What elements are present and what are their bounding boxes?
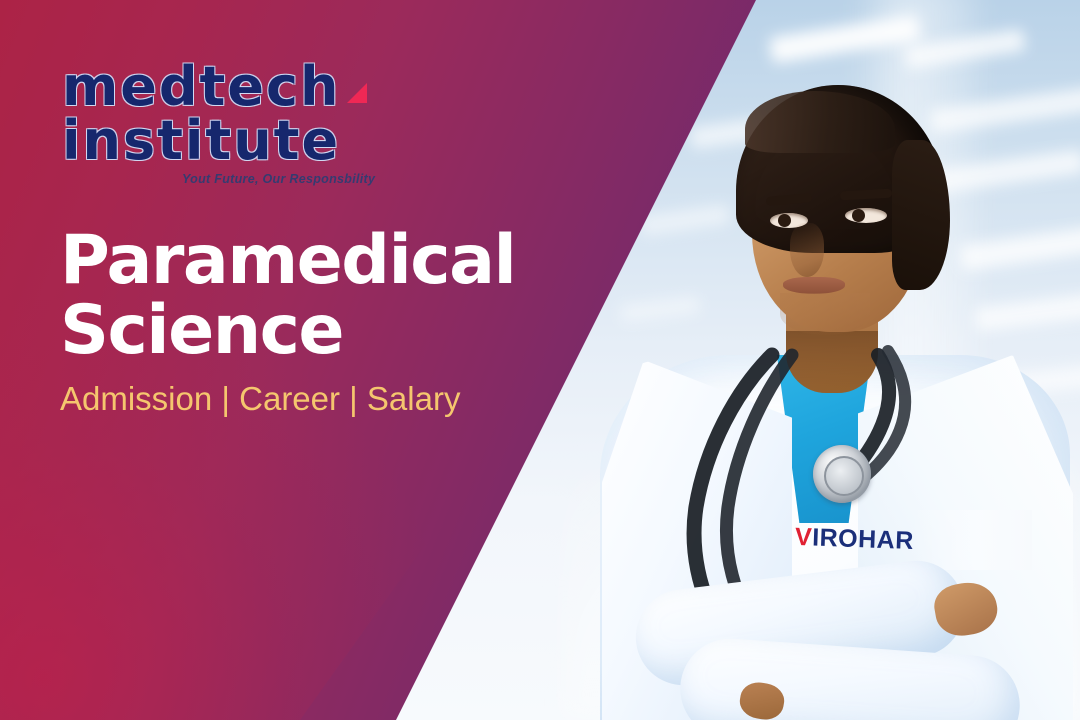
headline-line-1: Paramedical <box>60 226 600 296</box>
logo-word-institute: institute <box>62 116 382 166</box>
headline-line-2: Science <box>60 296 600 366</box>
red-triangle-flag-icon <box>347 83 367 103</box>
brand-logo[interactable]: medtech institute Yout Future, Our Respo… <box>62 62 382 186</box>
headline-block: Paramedical Science Admission | Career |… <box>60 226 600 418</box>
coat-brand-word: IROHAR <box>812 524 915 556</box>
logo-word-medtech: medtech <box>62 62 340 112</box>
coat-brand-v-mark: V <box>795 523 813 552</box>
lapel-badge <box>813 445 871 503</box>
headline-subtitle: Admission | Career | Salary <box>60 380 600 418</box>
logo-line-medtech: medtech <box>62 62 382 112</box>
paramedical-science-banner: VIROHAR medtech institute Yout Future, O… <box>0 0 1080 720</box>
coat-brand-text: VIROHAR <box>795 523 915 556</box>
logo-tagline: Yout Future, Our Responsbility <box>182 172 382 186</box>
coat-brand-fade-overlay <box>912 510 1032 570</box>
